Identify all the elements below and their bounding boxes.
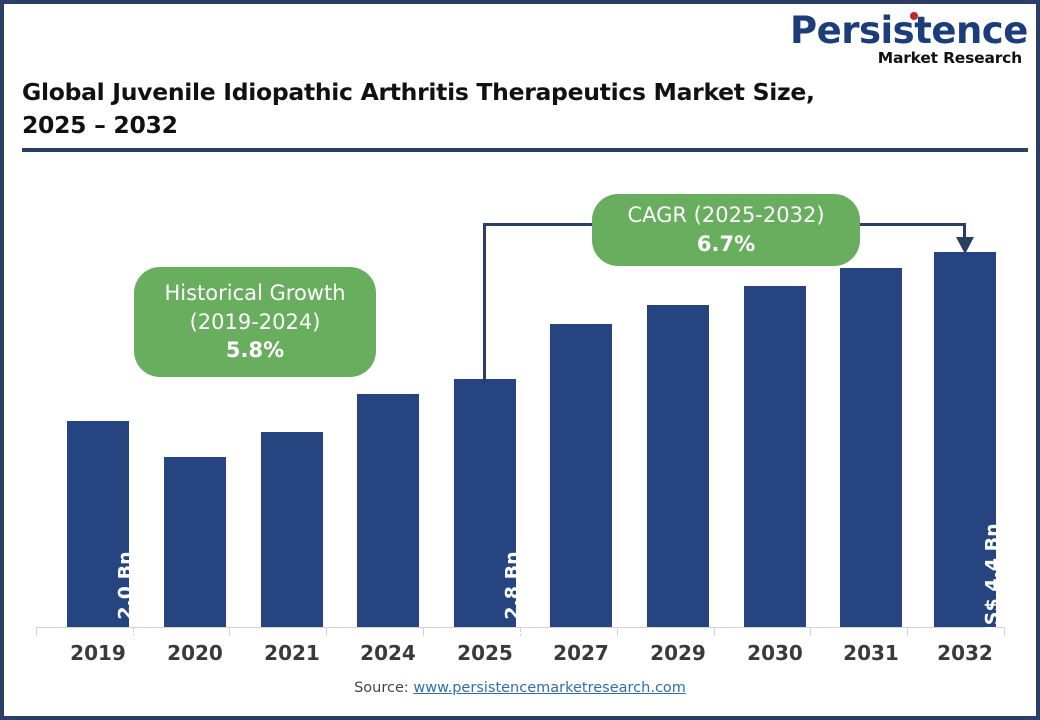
historical-growth-line2: (2019-2024) <box>190 308 321 337</box>
axis-tick <box>423 627 424 636</box>
bar-2021[interactable] <box>261 432 323 627</box>
cagr-line1: CAGR (2025-2032) <box>627 201 824 230</box>
bar-2020[interactable] <box>164 457 226 627</box>
cagr-connector-vertical-start <box>483 223 486 383</box>
company-logo: Persistence Market Research <box>790 12 1022 67</box>
chart-page: Persistence Market Research Global Juven… <box>0 0 1040 720</box>
bar-2024[interactable] <box>357 394 419 627</box>
bar-value-label-2030 <box>744 591 806 613</box>
cagr-value: 6.7% <box>697 230 755 259</box>
bar-value-label-2027 <box>550 591 612 613</box>
axis-tick <box>36 627 37 636</box>
bar-2019[interactable]: US$ 2.0 Bn <box>67 421 129 627</box>
bar-2029[interactable] <box>647 305 709 627</box>
bar-2032[interactable]: US$ 4.4 Bn <box>934 252 996 627</box>
axis-tick <box>229 627 230 636</box>
x-label-2027: 2027 <box>550 641 612 665</box>
axis-tick <box>714 627 715 636</box>
logo-wordmark: Persistence <box>790 12 1022 49</box>
axis-tick <box>907 627 908 636</box>
source-note: Source: www.persistencemarketresearch.co… <box>4 680 1036 696</box>
bar-value-label-2029 <box>647 591 709 613</box>
bar-2025[interactable]: US$ 2.8 Bn <box>454 379 516 627</box>
bar-value-label-2031 <box>840 591 902 613</box>
bar-value-label-2020 <box>164 591 226 613</box>
axis-tick <box>810 627 811 636</box>
x-label-2031: 2031 <box>840 641 902 665</box>
axis-tick <box>326 627 327 636</box>
bar-value-label-2024 <box>357 591 419 613</box>
axis-tick <box>1004 627 1005 636</box>
logo-tagline: Market Research <box>790 50 1022 67</box>
x-label-2019: 2019 <box>67 641 129 665</box>
x-label-2024: 2024 <box>357 641 419 665</box>
bar-2030[interactable] <box>744 286 806 627</box>
historical-growth-value: 5.8% <box>226 336 284 365</box>
bar-value-label-2021 <box>261 591 323 613</box>
cagr-arrow-icon <box>956 237 974 254</box>
source-link[interactable]: www.persistencemarketresearch.com <box>413 680 686 696</box>
bar-value-label-2019: US$ 2.0 Bn <box>67 599 129 621</box>
cagr-callout: CAGR (2025-2032) 6.7% <box>592 194 860 266</box>
logo-dot-icon <box>910 12 918 20</box>
x-label-2029: 2029 <box>647 641 709 665</box>
chart-plot-area: US$ 2.0 Bn US$ 2.8 Bn US$ 4.4 Bn 2 <box>4 154 1036 716</box>
x-label-2030: 2030 <box>744 641 806 665</box>
bar-2027[interactable] <box>550 324 612 627</box>
title-divider <box>22 148 1028 152</box>
bar-value-label-2025: US$ 2.8 Bn <box>454 599 516 621</box>
bar-2031[interactable] <box>840 268 902 627</box>
historical-growth-callout: Historical Growth (2019-2024) 5.8% <box>134 267 376 377</box>
x-label-2025: 2025 <box>454 641 516 665</box>
x-label-2020: 2020 <box>164 641 226 665</box>
axis-tick <box>617 627 618 636</box>
page-title: Global Juvenile Idiopathic Arthritis The… <box>22 76 852 143</box>
source-label: Source: <box>354 680 409 696</box>
historical-growth-line1: Historical Growth <box>164 279 345 308</box>
bar-value-label-2032: US$ 4.4 Bn <box>934 571 996 593</box>
x-label-2032: 2032 <box>934 641 996 665</box>
x-label-2021: 2021 <box>261 641 323 665</box>
